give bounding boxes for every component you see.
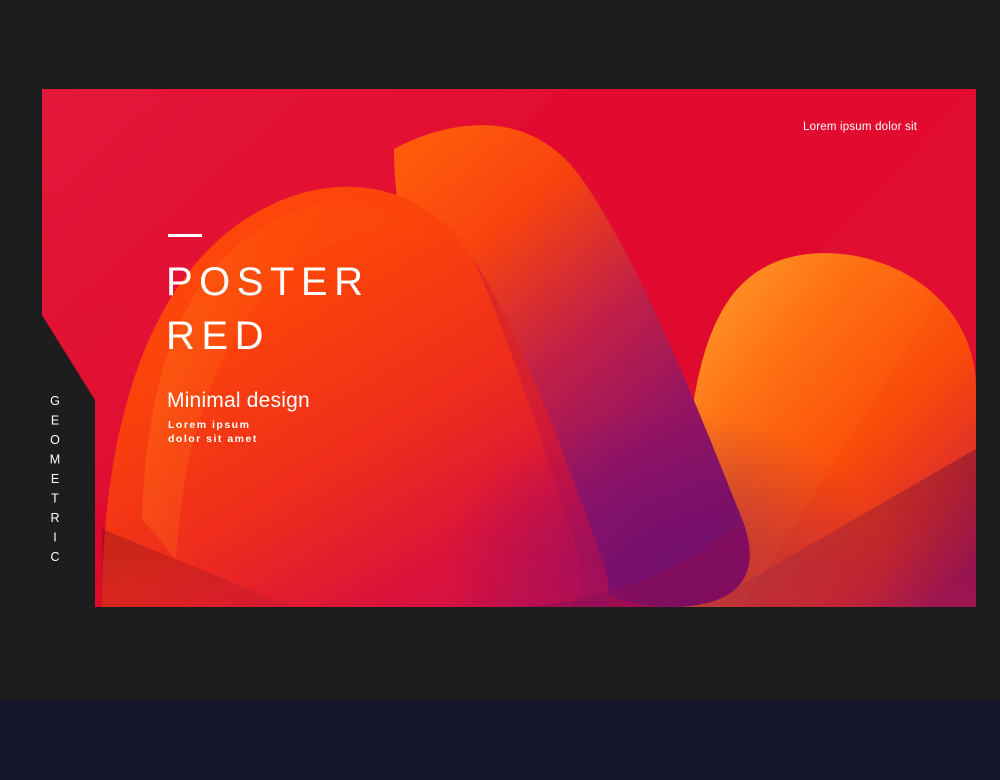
poster-subtitle: Minimal design (167, 390, 310, 411)
poster-body-copy: Lorem ipsum dolor sit amet (168, 418, 258, 446)
poster-side-label: GEOMETRIC (40, 394, 62, 570)
poster-title-line-1: POSTER (166, 262, 369, 302)
poster-title-line-2: RED (166, 316, 270, 356)
watermark-footer: VectorStock® VectorStock.com/47112523 (0, 700, 1000, 780)
screenshot-root: POSTER RED Minimal design Lorem ipsum do… (0, 0, 1000, 780)
title-rule-dash (168, 234, 202, 237)
poster-corner-note: Lorem ipsum dolor sit (803, 121, 917, 133)
